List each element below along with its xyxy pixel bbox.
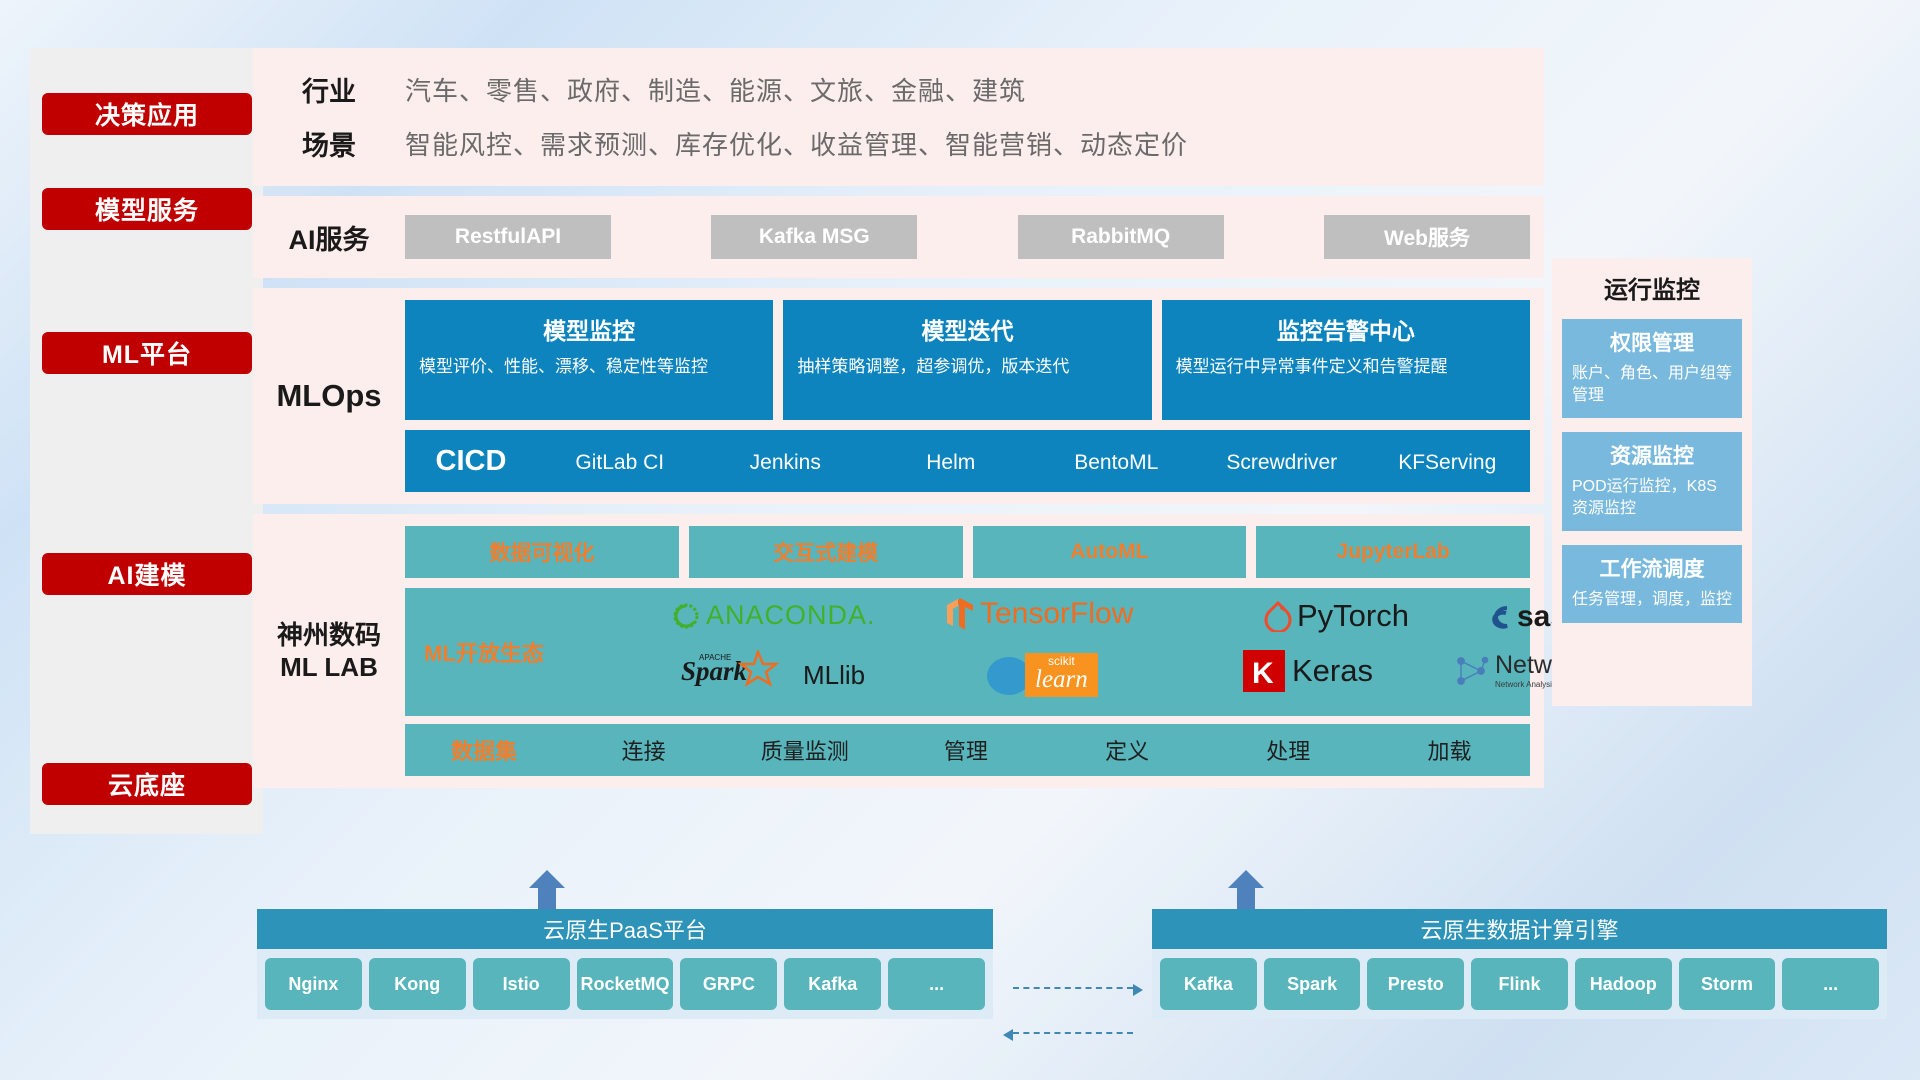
scenario-label: 场景	[253, 124, 405, 163]
up-arrow-engine-icon	[1228, 870, 1264, 910]
cloud-paas-header: 云原生PaaS平台	[257, 909, 993, 949]
pytorch-mark-icon	[1263, 600, 1293, 632]
engine-chip-kafka[interactable]: Kafka	[1160, 958, 1257, 1010]
band-divider	[253, 278, 1544, 288]
cicd-row: CICD GitLab CI Jenkins Helm BentoML Scre…	[405, 430, 1530, 492]
sas-mark-icon	[1483, 602, 1515, 632]
rail-item-decision-app[interactable]: 决策应用	[42, 93, 252, 135]
cloud-chip-kafka[interactable]: Kafka	[784, 958, 881, 1010]
industry-values: 汽车、零售、政府、制造、能源、文旅、金融、建筑	[405, 71, 1026, 108]
ml-ecosystem-row: ML开放生态 ANACONDA.	[405, 588, 1530, 716]
learn-word: learn	[1035, 667, 1088, 693]
cicd-item-screwdriver[interactable]: Screwdriver	[1199, 450, 1365, 473]
cicd-item-jenkins[interactable]: Jenkins	[703, 450, 869, 473]
mlops-card-alert-center[interactable]: 监控告警中心 模型运行中异常事件定义和告警提醒	[1162, 300, 1530, 420]
cloud-chip-nginx[interactable]: Nginx	[265, 958, 362, 1010]
engine-chip-presto[interactable]: Presto	[1367, 958, 1464, 1010]
tool-chip-jupyterlab[interactable]: JupyterLab	[1256, 526, 1530, 578]
cloud-paas-block: 云原生PaaS平台 Nginx Kong Istio RocketMQ GRPC…	[257, 909, 993, 1019]
cloud-chip-grpc[interactable]: GRPC	[680, 958, 777, 1010]
dataset-item-list: 连接 质量监测 管理 定义 处理 加载	[563, 734, 1530, 766]
ai-service-band: AI服务 RestfulAPI Kafka MSG RabbitMQ Web服务	[253, 196, 1544, 278]
pytorch-logo: PyTorch	[1263, 598, 1409, 634]
mlops-card-model-monitoring[interactable]: 模型监控 模型评价、性能、漂移、稳定性等监控	[405, 300, 773, 420]
scikit-learn-badge: scikit learn	[1025, 653, 1098, 697]
monitor-card-resource[interactable]: 资源监控 POD运行监控，K8S资源监控	[1562, 432, 1742, 531]
cloud-chip-istio[interactable]: Istio	[473, 958, 570, 1010]
ml-ecosystem-label: ML开放生态	[405, 588, 563, 716]
monitor-card-workflow[interactable]: 工作流调度 任务管理，调度，监控	[1562, 545, 1742, 623]
dataset-row: 数据集 连接 质量监测 管理 定义 处理 加载	[405, 724, 1530, 776]
card-desc: 账户、角色、用户组等管理	[1572, 363, 1732, 406]
card-desc: 模型运行中异常事件定义和告警提醒	[1176, 356, 1516, 379]
cloud-chip-rocketmq[interactable]: RocketMQ	[577, 958, 674, 1010]
mlops-content: 模型监控 模型评价、性能、漂移、稳定性等监控 模型迭代 抽样策略调整，超参调优，…	[405, 300, 1544, 492]
ml-lab-label-line1: 神州数码	[277, 619, 381, 652]
anaconda-wordmark: ANACONDA.	[706, 600, 876, 631]
cicd-item-gitlab-ci[interactable]: GitLab CI	[537, 450, 703, 473]
cloud-data-engine-chip-list: Kafka Spark Presto Flink Hadoop Storm ..…	[1152, 949, 1887, 1019]
dataset-item-process[interactable]: 处理	[1208, 734, 1369, 766]
band-divider	[253, 504, 1544, 514]
keras-wordmark: Keras	[1292, 653, 1373, 689]
industry-row: 行业 汽车、零售、政府、制造、能源、文旅、金融、建筑	[253, 62, 1544, 116]
spark-mark-icon: Spark APACHE	[681, 650, 801, 700]
ml-lab-label: 神州数码 ML LAB	[253, 526, 405, 776]
keras-mark-icon: K	[1243, 650, 1285, 692]
dataset-item-quality[interactable]: 质量监测	[724, 734, 885, 766]
scenario-values: 智能风控、需求预测、库存优化、收益管理、智能营销、动态定价	[405, 125, 1188, 162]
arrow-stem	[1237, 888, 1255, 910]
rail-item-cloud-base[interactable]: 云底座	[42, 763, 252, 805]
ml-lab-tool-list: 数据可视化 交互式建模 AutoML JupyterLab	[405, 526, 1530, 578]
engine-chip-storm[interactable]: Storm	[1679, 958, 1776, 1010]
card-title: 模型迭代	[797, 312, 1137, 346]
runtime-monitor-panel: 运行监控 权限管理 账户、角色、用户组等管理 资源监控 POD运行监控，K8S资…	[1552, 258, 1752, 706]
main-stack: 行业 汽车、零售、政府、制造、能源、文旅、金融、建筑 场景 智能风控、需求预测、…	[253, 48, 1544, 788]
tool-chip-data-visualization[interactable]: 数据可视化	[405, 526, 679, 578]
industry-scenario-band: 行业 汽车、零售、政府、制造、能源、文旅、金融、建筑 场景 智能风控、需求预测、…	[253, 48, 1544, 186]
keras-logo: K Keras	[1243, 650, 1373, 692]
rail-item-model-service[interactable]: 模型服务	[42, 188, 252, 230]
ml-lab-content: 数据可视化 交互式建模 AutoML JupyterLab ML开放生态 ANA…	[405, 526, 1544, 776]
card-desc: POD运行监控，K8S资源监控	[1572, 476, 1732, 519]
left-rail: 决策应用 模型服务 ML平台 AI建模 云底座	[30, 48, 263, 834]
dashed-arrow-right-icon	[1013, 987, 1133, 989]
arrow-stem	[538, 888, 556, 910]
anaconda-logo: ANACONDA.	[671, 600, 876, 631]
ai-service-chip-restfulapi[interactable]: RestfulAPI	[405, 215, 611, 259]
tensorflow-mark-icon	[943, 596, 977, 632]
monitor-card-permission[interactable]: 权限管理 账户、角色、用户组等管理	[1562, 319, 1742, 418]
card-desc: 任务管理，调度，监控	[1572, 589, 1732, 611]
anaconda-mark-icon	[671, 601, 701, 631]
scikit-learn-logo: scikit learn	[983, 652, 1098, 698]
cicd-item-helm[interactable]: Helm	[868, 450, 1034, 473]
mlops-card-model-iteration[interactable]: 模型迭代 抽样策略调整，超参调优，版本迭代	[783, 300, 1151, 420]
dataset-title: 数据集	[405, 734, 563, 766]
cicd-title: CICD	[405, 445, 537, 478]
card-title: 模型监控	[419, 312, 759, 346]
arrow-head	[1228, 870, 1264, 888]
cicd-item-bentoml[interactable]: BentoML	[1034, 450, 1200, 473]
card-title: 权限管理	[1572, 327, 1732, 357]
svg-text:K: K	[1252, 657, 1274, 690]
rail-item-ai-modeling[interactable]: AI建模	[42, 553, 252, 595]
band-divider	[253, 186, 1544, 196]
ml-lab-label-line2: ML LAB	[280, 651, 378, 684]
networkx-mark-icon	[1453, 652, 1491, 690]
dataset-item-manage[interactable]: 管理	[885, 734, 1046, 766]
svg-text:APACHE: APACHE	[699, 653, 731, 662]
card-desc: 抽样策略调整，超参调优，版本迭代	[797, 356, 1137, 379]
arrow-head	[529, 870, 565, 888]
cloud-chip-kong[interactable]: Kong	[369, 958, 466, 1010]
card-title: 工作流调度	[1572, 553, 1732, 583]
cloud-paas-chip-list: Nginx Kong Istio RocketMQ GRPC Kafka ...	[257, 949, 993, 1019]
mlops-label: MLOps	[253, 300, 405, 492]
ml-lab-band: 神州数码 ML LAB 数据可视化 交互式建模 AutoML JupyterLa…	[253, 514, 1544, 788]
scenario-row: 场景 智能风控、需求预测、库存优化、收益管理、智能营销、动态定价	[253, 116, 1544, 170]
card-title: 监控告警中心	[1176, 312, 1516, 346]
ai-service-chip-kafka-msg[interactable]: Kafka MSG	[711, 215, 917, 259]
tool-chip-automl[interactable]: AutoML	[973, 526, 1247, 578]
card-desc: 模型评价、性能、漂移、稳定性等监控	[419, 356, 759, 379]
dataset-item-load[interactable]: 加载	[1369, 734, 1530, 766]
tool-chip-interactive-modeling[interactable]: 交互式建模	[689, 526, 963, 578]
tensorflow-logo: TensorFlow	[943, 596, 1133, 632]
cicd-item-list: GitLab CI Jenkins Helm BentoML Screwdriv…	[537, 450, 1530, 473]
runtime-monitor-title: 运行监控	[1562, 270, 1742, 305]
ml-ecosystem-logo-area: ANACONDA. TensorFlow	[563, 588, 1530, 716]
engine-chip-spark[interactable]: Spark	[1264, 958, 1361, 1010]
cloud-data-engine-header: 云原生数据计算引擎	[1152, 909, 1887, 949]
cloud-chip-more[interactable]: ...	[888, 958, 985, 1010]
cloud-data-engine-block: 云原生数据计算引擎 Kafka Spark Presto Flink Hadoo…	[1152, 909, 1887, 1019]
ai-service-label: AI服务	[253, 218, 405, 257]
spark-mllib-logo: Spark APACHE MLlib	[681, 650, 865, 700]
engine-chip-hadoop[interactable]: Hadoop	[1575, 958, 1672, 1010]
ai-service-chip-web[interactable]: Web服务	[1324, 215, 1530, 259]
cicd-item-kfserving[interactable]: KFServing	[1365, 450, 1531, 473]
dataset-item-define[interactable]: 定义	[1047, 734, 1208, 766]
dashed-arrow-left-icon	[1013, 1032, 1133, 1034]
dataset-item-connect[interactable]: 连接	[563, 734, 724, 766]
card-title: 资源监控	[1572, 440, 1732, 470]
mllib-wordmark: MLlib	[803, 660, 865, 691]
up-arrow-paas-icon	[529, 870, 565, 910]
tensorflow-wordmark: TensorFlow	[980, 597, 1133, 631]
engine-chip-more[interactable]: ...	[1782, 958, 1879, 1010]
pytorch-wordmark: PyTorch	[1297, 598, 1409, 634]
ai-service-chip-rabbitmq[interactable]: RabbitMQ	[1018, 215, 1224, 259]
ai-service-chip-list: RestfulAPI Kafka MSG RabbitMQ Web服务	[405, 215, 1544, 259]
mlops-card-list: 模型监控 模型评价、性能、漂移、稳定性等监控 模型迭代 抽样策略调整，超参调优，…	[405, 300, 1530, 420]
rail-item-ml-platform[interactable]: ML平台	[42, 332, 252, 374]
industry-label: 行业	[253, 70, 405, 109]
engine-chip-flink[interactable]: Flink	[1471, 958, 1568, 1010]
mlops-band: MLOps 模型监控 模型评价、性能、漂移、稳定性等监控 模型迭代 抽样策略调整…	[253, 288, 1544, 504]
